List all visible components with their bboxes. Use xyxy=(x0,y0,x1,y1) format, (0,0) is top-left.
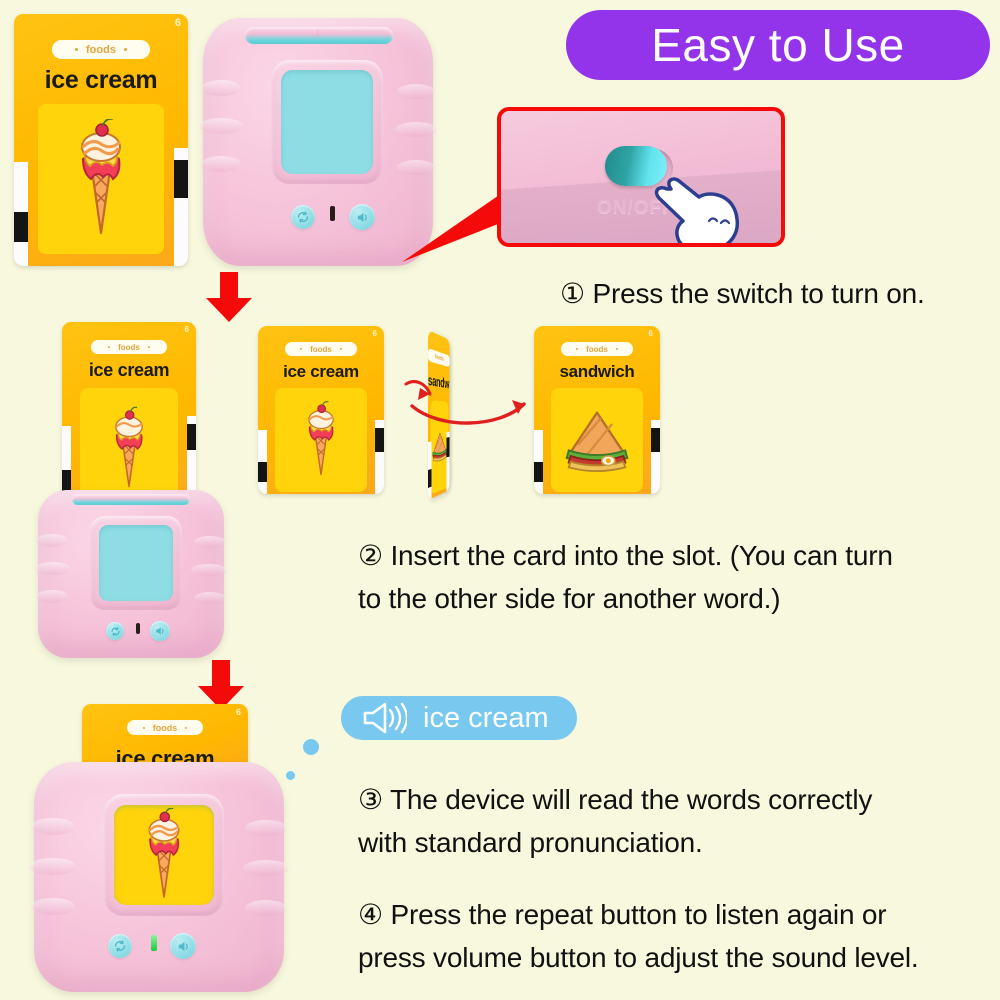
rotate-arrows-icon xyxy=(396,368,538,440)
screen-bezel xyxy=(104,794,224,916)
switch-detail-callout: ON/OFF xyxy=(497,107,785,247)
ice-cream-cone-icon xyxy=(104,405,154,493)
bubble-dot-small xyxy=(283,768,298,783)
card-number: 6 xyxy=(236,707,241,717)
device-step2 xyxy=(38,490,224,658)
device-step3 xyxy=(34,762,284,992)
step-3-line-1: ③ The device will read the words correct… xyxy=(358,778,998,821)
repeat-icon xyxy=(110,626,121,637)
card-category-tag: foods xyxy=(127,720,203,735)
volume-button[interactable] xyxy=(349,204,375,230)
banner-title: Easy to Use xyxy=(651,22,905,68)
step-2-text: ② Insert the card into the slot. (You ca… xyxy=(358,534,998,621)
volume-icon xyxy=(355,210,370,225)
card-category-tag: foods xyxy=(52,40,150,59)
device-rib xyxy=(36,534,68,547)
repeat-icon xyxy=(113,939,127,953)
flashcard-inserted: 6 foods ice cream xyxy=(62,322,196,512)
device-rib xyxy=(201,80,241,96)
card-category-label: foods xyxy=(435,353,444,362)
device-rib xyxy=(36,590,68,603)
speaker-icon xyxy=(361,701,407,735)
step-4-text: ④ Press the repeat button to listen agai… xyxy=(358,893,1000,980)
screen-bezel xyxy=(90,516,182,610)
bubble-dot-large xyxy=(300,736,322,758)
card-category-tag: foods xyxy=(561,342,633,356)
device-rib xyxy=(395,122,437,137)
card-number: 6 xyxy=(373,329,377,338)
card-number: 6 xyxy=(185,325,189,334)
pronunciation-bubble: ice cream xyxy=(337,692,581,744)
card-edge-mark-left xyxy=(534,430,543,494)
card-category-tag: foods xyxy=(428,348,450,368)
card-category-label: foods xyxy=(118,343,140,352)
device-rib xyxy=(31,818,75,835)
pointing-hand-icon xyxy=(649,163,749,247)
flashcard-ice-cream-front: 6 foods ice cream xyxy=(258,326,384,494)
device-rib xyxy=(29,858,77,875)
device-rib xyxy=(245,820,287,836)
device-rib xyxy=(199,118,243,134)
slot-arrow-icon: ↓ xyxy=(315,26,321,38)
card-image-panel xyxy=(551,388,643,492)
card-slot[interactable] xyxy=(72,494,190,505)
device-screen xyxy=(99,525,173,601)
device-rib xyxy=(397,160,435,175)
ice-cream-cone-icon xyxy=(298,400,344,480)
step-2-line-1: ② Insert the card into the slot. (You ca… xyxy=(358,534,998,577)
card-edge-mark-left xyxy=(14,162,28,266)
card-category-label: foods xyxy=(310,345,332,354)
card-image-panel xyxy=(275,388,367,492)
step-2-line-2: to the other side for another word.) xyxy=(358,577,998,620)
card-edge-mark-right xyxy=(174,148,188,266)
card-category-label: foods xyxy=(153,723,178,733)
device-rib xyxy=(31,898,75,915)
card-edge-mark-left xyxy=(258,430,267,494)
card-word-label: ice cream xyxy=(62,360,196,381)
power-led xyxy=(330,206,335,221)
card-word-label: ice cream xyxy=(258,362,384,382)
screen-bezel xyxy=(271,60,383,184)
card-word-label: ice cream xyxy=(14,66,188,95)
flashcard-sandwich: 6 foods sandwich xyxy=(534,326,660,494)
card-category-tag: foods xyxy=(91,340,167,354)
device-screen xyxy=(281,70,373,174)
device-rib xyxy=(194,536,226,548)
repeat-icon xyxy=(296,210,310,224)
card-edge-mark-right xyxy=(375,420,384,494)
repeat-button[interactable] xyxy=(106,622,124,640)
card-edge-mark-right xyxy=(447,432,450,492)
device-screen-active xyxy=(114,805,214,905)
card-number: 6 xyxy=(175,17,181,29)
card-category-label: foods xyxy=(586,345,608,354)
power-led xyxy=(136,623,140,634)
step-4-line-2: press volume button to adjust the sound … xyxy=(358,936,1000,979)
card-edge-mark-left xyxy=(428,441,432,500)
step-4-line-1: ④ Press the repeat button to listen agai… xyxy=(358,893,1000,936)
device-rib xyxy=(201,156,241,172)
step-1-text: ① Press the switch to turn on. xyxy=(560,272,990,315)
volume-button[interactable] xyxy=(150,621,170,641)
ice-cream-cone-icon xyxy=(65,119,137,239)
card-category-tag: foods xyxy=(285,342,357,356)
infographic-stage: Easy to Use 6 foods ice cream xyxy=(0,0,1000,1000)
repeat-button[interactable] xyxy=(108,934,132,958)
flashcard-ice-cream-standalone: 6 foods ice cream xyxy=(14,14,188,266)
card-image-panel xyxy=(38,104,164,254)
easy-to-use-banner: Easy to Use xyxy=(566,10,990,80)
device-rib xyxy=(245,900,287,916)
device-rib xyxy=(397,84,435,99)
volume-button[interactable] xyxy=(170,933,196,959)
card-number: 6 xyxy=(649,329,653,338)
volume-icon xyxy=(154,625,166,637)
flow-arrow-1 xyxy=(200,272,258,324)
card-edge-mark-right xyxy=(651,420,660,494)
step-3-line-2: with standard pronunciation. xyxy=(358,821,998,864)
power-led-on xyxy=(151,935,157,951)
card-category-label: foods xyxy=(86,44,116,56)
step-3-text: ③ The device will read the words correct… xyxy=(358,778,998,865)
card-word-label: sandwich xyxy=(534,362,660,382)
sandwich-icon xyxy=(559,407,635,473)
bubble-word: ice cream xyxy=(423,702,549,735)
device-rib xyxy=(35,562,71,575)
ice-cream-cone-icon xyxy=(136,808,192,902)
volume-icon xyxy=(176,939,191,954)
device-rib xyxy=(191,564,227,576)
device-rib xyxy=(194,592,226,604)
repeat-button[interactable] xyxy=(291,205,315,229)
device-rib xyxy=(243,860,289,876)
